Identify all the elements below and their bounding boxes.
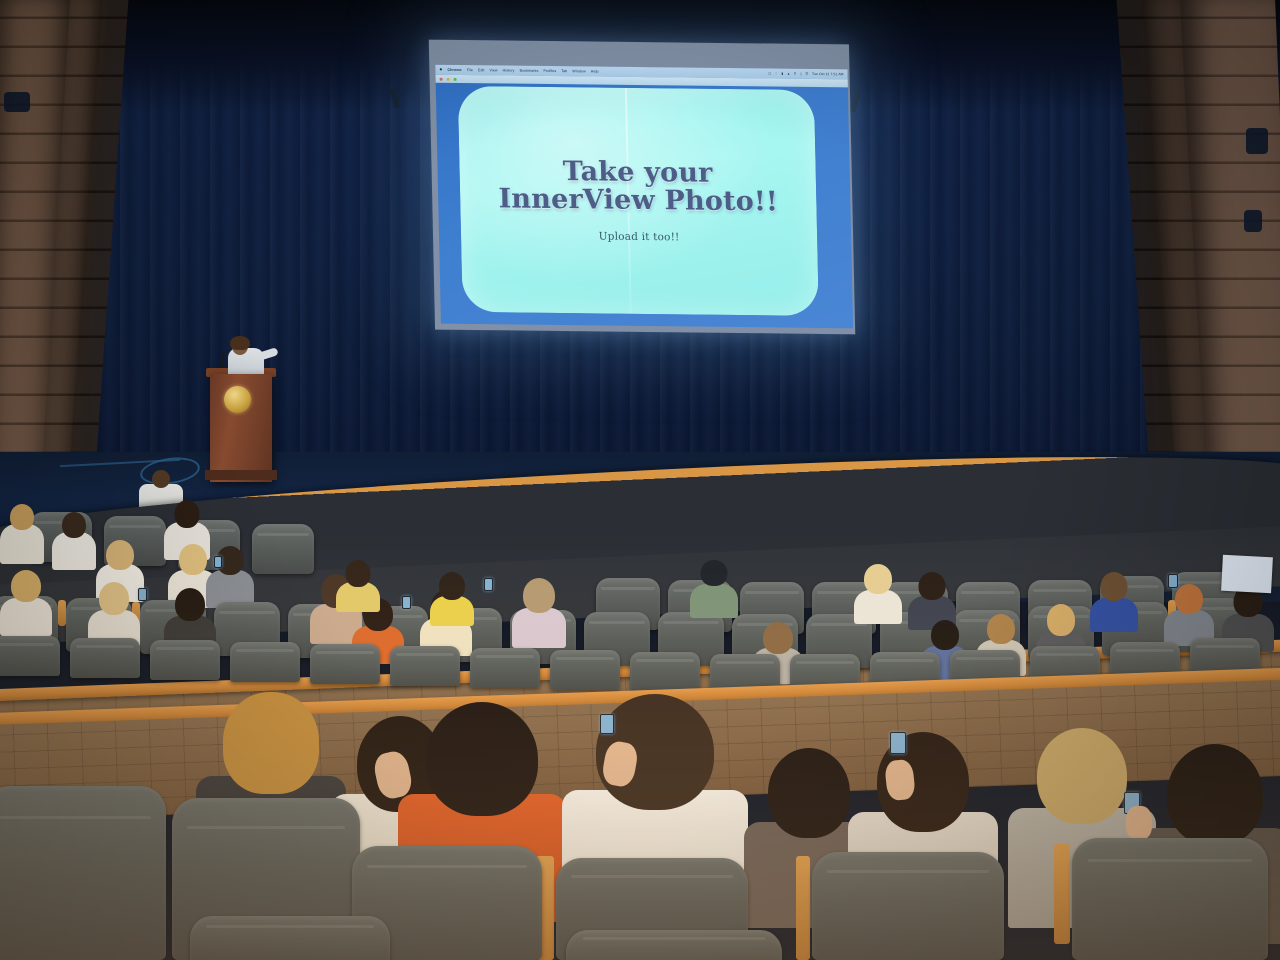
bluetooth-icon[interactable]: ♢ [775, 72, 778, 76]
person-head [426, 702, 538, 816]
wall-speaker-right [1246, 128, 1268, 154]
slide-title: Take your InnerView Photo!! [487, 158, 788, 216]
audience-member [0, 570, 52, 636]
menu-bar-clock[interactable]: Tue Oct 11 7:51 AM [812, 72, 844, 76]
menu-item-tab[interactable]: Tab [561, 69, 567, 73]
person-torso [1090, 598, 1138, 632]
person-head [919, 572, 946, 600]
person-head [106, 540, 134, 570]
audience-member [854, 564, 902, 624]
person-head [1037, 728, 1127, 824]
menu-item-bookmarks[interactable]: Bookmarks [520, 69, 539, 73]
menu-item-chrome[interactable]: Chrome [447, 68, 461, 72]
seat-front[interactable] [0, 786, 166, 960]
person-head [11, 570, 41, 602]
armrest-front [796, 856, 810, 960]
auditorium-photo: ● Chrome File Edit View History Bookmark… [0, 0, 1280, 960]
wall-speaker-left [4, 92, 30, 112]
person-head [62, 512, 86, 538]
person-torso [0, 524, 44, 564]
person-head [701, 560, 728, 586]
menu-item-profiles[interactable]: Profiles [543, 69, 556, 73]
seat[interactable] [70, 638, 140, 678]
audience-member [512, 578, 566, 648]
menu-item-history[interactable]: History [503, 68, 515, 72]
person-head [987, 614, 1015, 644]
armrest [58, 600, 66, 626]
podium-school-seal [224, 386, 251, 413]
projection-screen: ● Chrome File Edit View History Bookmark… [429, 40, 856, 335]
presentation-slide: Take your InnerView Photo!! Upload it to… [458, 86, 819, 316]
person-torso [690, 584, 738, 618]
menu-item-edit[interactable]: Edit [478, 68, 485, 72]
search-icon[interactable]: ⚲ [794, 72, 797, 76]
menu-item-window[interactable]: Window [572, 69, 585, 73]
menu-item-view[interactable]: View [489, 68, 497, 72]
seat[interactable] [310, 644, 380, 684]
screen-share-icon[interactable]: ◻ [768, 71, 771, 75]
person-head [99, 582, 129, 615]
seat[interactable] [0, 636, 60, 676]
seat[interactable] [630, 652, 700, 692]
menu-item-file[interactable]: File [467, 68, 473, 72]
audience-member [690, 560, 738, 618]
wall-speaker-right-2 [1244, 210, 1262, 232]
armrest-front [1054, 844, 1070, 944]
person-head [931, 620, 959, 650]
person-head [439, 572, 465, 600]
phone-held-up[interactable] [600, 714, 614, 734]
seat-front[interactable] [812, 852, 1004, 960]
presenter-hair [230, 336, 250, 350]
person-head [1175, 584, 1203, 614]
person-head [1101, 572, 1128, 601]
person-head [346, 560, 371, 587]
audience-member [0, 504, 44, 564]
person-head [179, 544, 207, 575]
audience-member [1164, 584, 1214, 646]
minimize-window-button[interactable] [447, 77, 450, 80]
phone-held-up[interactable] [138, 588, 147, 601]
apple-menu-icon[interactable]: ● [439, 67, 442, 72]
person-head [768, 748, 850, 838]
seat-front[interactable] [1072, 838, 1268, 960]
person-head [10, 504, 34, 530]
raised-hand [1126, 806, 1152, 840]
phone-held-up[interactable] [402, 596, 411, 609]
phone-held-up[interactable] [890, 732, 906, 754]
display-icon[interactable]: ▮ [781, 72, 783, 76]
person-head [1167, 744, 1263, 846]
podium-base [205, 470, 277, 480]
phone-held-up[interactable] [484, 578, 493, 591]
battery-icon[interactable]: ▯ [800, 72, 802, 76]
seat[interactable] [230, 642, 300, 682]
seat-front-lower[interactable] [190, 916, 390, 960]
person-head [223, 692, 319, 794]
control-center-icon[interactable]: ☰ [805, 72, 808, 76]
close-window-button[interactable] [440, 77, 443, 80]
phone-held-up[interactable] [1168, 574, 1178, 588]
person-torso [430, 596, 474, 626]
wifi-icon[interactable]: ▲ [787, 72, 791, 76]
seat[interactable] [550, 650, 620, 690]
person-torso [0, 598, 52, 636]
seat[interactable] [150, 640, 220, 680]
person-torso [512, 608, 566, 648]
seat[interactable] [252, 524, 314, 574]
menu-bar-status-tray[interactable]: ◻ ♢ ▮ ▲ ⚲ ▯ ☰ Tue Oct 11 7:51 AM [768, 71, 843, 76]
audience-member [52, 512, 96, 570]
person-head [175, 588, 205, 621]
crew-head [152, 470, 170, 488]
person-head [864, 564, 892, 594]
phone-held-up[interactable] [214, 556, 222, 568]
audience-member [336, 560, 380, 612]
seat-front-lower[interactable] [566, 930, 782, 960]
audience-member [430, 572, 474, 626]
menu-bar-spacer [604, 72, 764, 74]
person-head [523, 578, 555, 613]
slide-subtitle: Upload it too!! [599, 230, 680, 243]
menu-item-help[interactable]: Help [591, 69, 599, 73]
person-head [763, 622, 793, 654]
person-torso [854, 590, 902, 624]
held-paper-right [1221, 555, 1273, 594]
person-head [1047, 604, 1075, 636]
seat[interactable] [470, 648, 540, 688]
zoom-window-button[interactable] [454, 77, 457, 80]
seat[interactable] [390, 646, 460, 686]
person-head [175, 500, 200, 528]
audience-member [1090, 572, 1138, 632]
